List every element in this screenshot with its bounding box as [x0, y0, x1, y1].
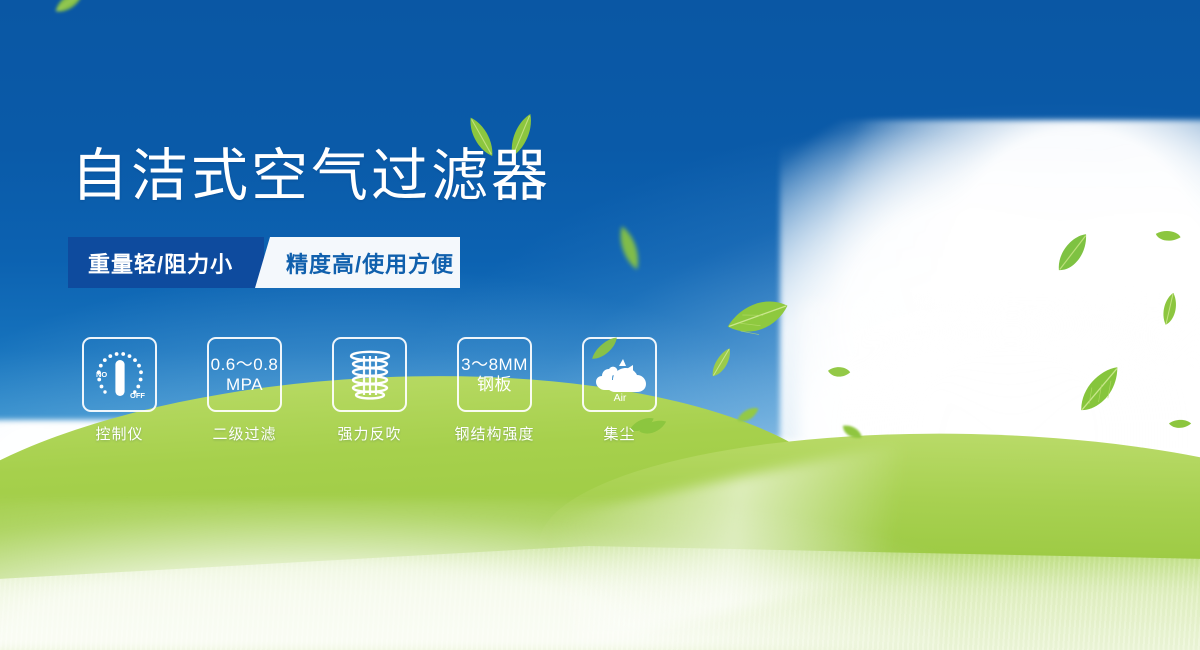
pressure-range: 0.6～0.8 [211, 355, 279, 374]
page-title: 自洁式空气过滤器 [71, 146, 551, 206]
feature-icon-box [332, 337, 407, 412]
feature-icon-box: 3～8MM 钢板 [457, 337, 532, 412]
pressure-unit: MPA [211, 375, 279, 394]
product-banner: 自洁式空气过滤器 重量轻/阻力小 精度高/使用方便 [0, 0, 1200, 650]
steel-material: 钢板 [461, 375, 528, 394]
feature-icon-box: Air [582, 337, 657, 412]
gauge-dial-icon: NO OFF [89, 346, 151, 404]
tagline-left-text: 重量轻/阻力小 [88, 237, 233, 288]
feature-label: 控制仪 [95, 423, 143, 444]
feature-label: 集尘 [603, 423, 635, 444]
feature-icon-box: 0.6～0.8 MPA [207, 337, 282, 412]
feature-label: 二级过滤 [212, 423, 276, 444]
feature-label: 强力反吹 [337, 423, 401, 444]
gauge-max-label: OFF [130, 391, 145, 400]
tagline-bar: 重量轻/阻力小 精度高/使用方便 [68, 237, 460, 288]
steel-thickness: 3～8MM [461, 355, 528, 374]
gauge-min-label: NO [96, 370, 107, 379]
steel-plate-text-icon: 3～8MM 钢板 [461, 355, 528, 393]
feature-list: NO OFF 控制仪 0.6～0.8 MPA 二级过滤 [82, 337, 657, 444]
feature-item-steel[interactable]: 3～8MM 钢板 钢结构强度 [457, 337, 532, 444]
feature-label: 钢结构强度 [455, 423, 535, 444]
feature-item-backwash[interactable]: 强力反吹 [332, 337, 407, 444]
feature-item-control-gauge[interactable]: NO OFF 控制仪 [82, 337, 157, 444]
pressure-text-icon: 0.6～0.8 MPA [211, 355, 279, 393]
tagline-right-text: 精度高/使用方便 [286, 237, 454, 288]
filter-coil-icon [342, 347, 398, 403]
feature-item-pressure[interactable]: 0.6～0.8 MPA 二级过滤 [207, 337, 282, 444]
air-label: Air [613, 392, 626, 404]
feature-icon-box: NO OFF [82, 337, 157, 412]
